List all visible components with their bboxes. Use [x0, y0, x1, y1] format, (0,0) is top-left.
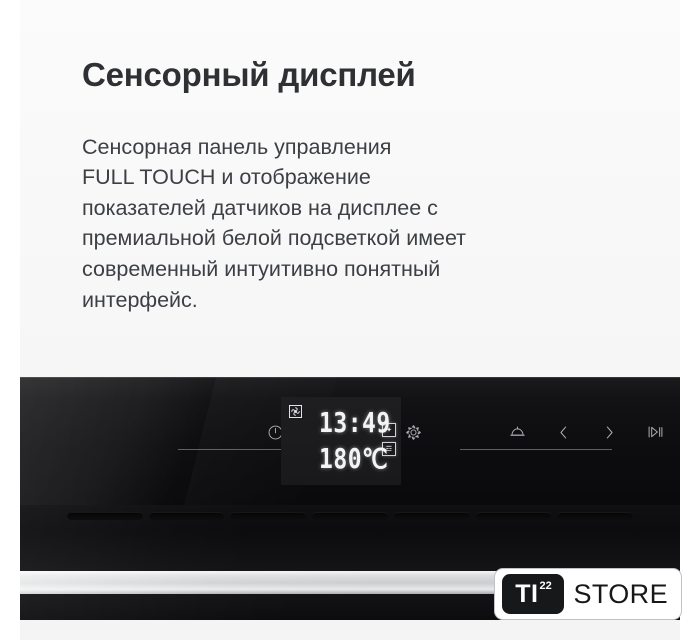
logo-mark: TI 22: [502, 574, 564, 614]
vent-slot: [476, 512, 552, 520]
oven-lamp-icon[interactable]: [494, 417, 540, 447]
vent-slot: [557, 512, 633, 520]
page-title: Сенсорный дисплей: [82, 56, 642, 94]
text-block: Сенсорный дисплей Сенсорная панель управ…: [82, 56, 642, 315]
lcd-indicator-group: ✦ ☲: [382, 423, 396, 456]
meat-probe-icon: ☲: [382, 442, 396, 456]
vent-slot: [394, 512, 470, 520]
probe-indicator-icon: ✦: [382, 423, 396, 437]
oven-vent-slots: [64, 511, 636, 520]
logo-mark-superscript: 22: [539, 580, 551, 592]
vent-slot: [149, 512, 225, 520]
oven-control-fascia: 13:49 180℃ ✦ ☲: [20, 377, 680, 505]
play-pause-icon[interactable]: [632, 417, 678, 447]
ti-store-logo: TI 22 STORE: [494, 568, 682, 620]
logo-word: STORE: [573, 579, 668, 610]
right-touch-key-group: [494, 417, 678, 447]
lcd-readout: 13:49 180℃: [319, 411, 391, 470]
fascia-top-hairline: [20, 377, 680, 378]
lcd-display: 13:49 180℃ ✦ ☲: [281, 397, 401, 485]
lcd-time-value: 13:49: [319, 411, 391, 438]
vent-slot: [67, 512, 143, 520]
description-text: Сенсорная панель управления FULL TOUCH и…: [82, 132, 642, 315]
vent-slot: [230, 512, 306, 520]
vent-slot: [312, 512, 388, 520]
slide-root: Сенсорный дисплей Сенсорная панель управ…: [0, 0, 696, 640]
right-touch-underline: [460, 449, 612, 450]
lcd-temperature-value: 180℃: [319, 447, 388, 474]
chevron-right-icon[interactable]: [586, 417, 632, 447]
logo-mark-text: TI: [515, 580, 538, 609]
oven-door-upper: [20, 505, 680, 571]
fan-convection-icon: [288, 404, 302, 418]
chevron-left-icon[interactable]: [540, 417, 586, 447]
